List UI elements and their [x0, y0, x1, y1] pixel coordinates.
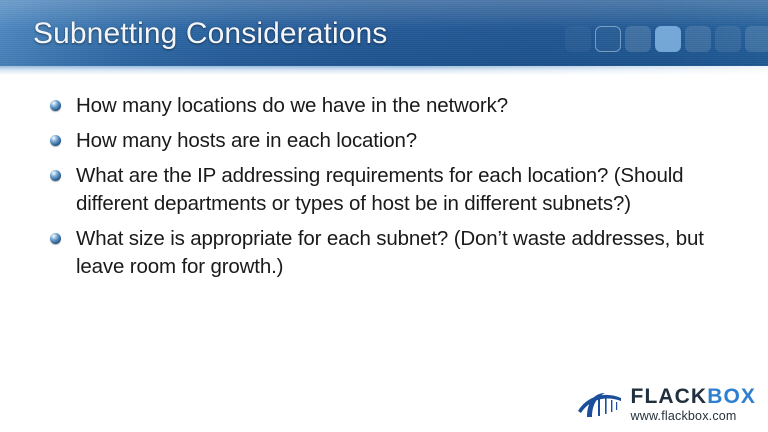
- header-square-5: [685, 26, 711, 52]
- slide-header: Subnetting Considerations: [0, 0, 768, 66]
- header-square-1: [565, 26, 591, 52]
- list-item-text: What size is appropriate for each subnet…: [76, 225, 740, 281]
- flackbox-wordmark: FLACKBOX: [631, 386, 756, 407]
- header-squares: [565, 26, 768, 52]
- flackbox-logo: FLACKBOX www.flackbox.com: [575, 386, 756, 423]
- list-item: How many hosts are in each location?: [50, 127, 740, 155]
- flackbox-wordmark-primary: FLACK: [631, 385, 708, 408]
- bullet-list: How many locations do we have in the net…: [50, 92, 740, 288]
- flackbox-logo-text: FLACKBOX www.flackbox.com: [631, 386, 756, 423]
- flackbox-url: www.flackbox.com: [631, 410, 737, 423]
- list-item: What size is appropriate for each subnet…: [50, 225, 740, 281]
- sphere-bullet-icon: [50, 100, 61, 111]
- list-item-text: How many locations do we have in the net…: [76, 92, 740, 120]
- list-item-text: How many hosts are in each location?: [76, 127, 740, 155]
- header-square-3: [625, 26, 651, 52]
- list-item: How many locations do we have in the net…: [50, 92, 740, 120]
- list-item: What are the IP addressing requirements …: [50, 162, 740, 218]
- slide-root: Subnetting Considerations How many locat…: [0, 0, 768, 432]
- header-square-4: [655, 26, 681, 52]
- page-title: Subnetting Considerations: [33, 17, 387, 51]
- header-square-2: [595, 26, 621, 52]
- header-underbar-fade: [0, 66, 768, 75]
- header-square-6: [715, 26, 741, 52]
- flackbox-bridge-icon: [575, 387, 627, 421]
- sphere-bullet-icon: [50, 233, 61, 244]
- header-square-7: [745, 26, 768, 52]
- list-item-text: What are the IP addressing requirements …: [76, 162, 740, 218]
- sphere-bullet-icon: [50, 135, 61, 146]
- sphere-bullet-icon: [50, 170, 61, 181]
- flackbox-wordmark-secondary: BOX: [707, 385, 756, 408]
